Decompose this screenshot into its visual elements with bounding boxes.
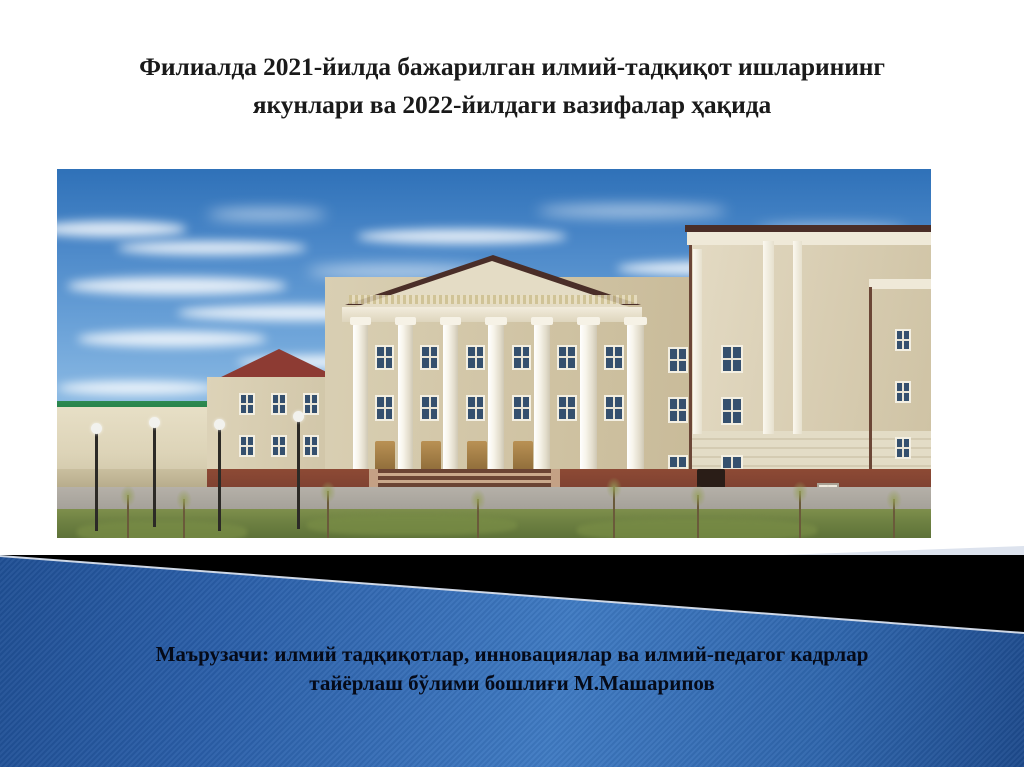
window — [557, 345, 577, 370]
window — [239, 393, 255, 415]
right-roof-edge — [685, 225, 931, 232]
cloud — [537, 205, 727, 217]
title-line-1: Филиалда 2021-йилда бажарилган илмий-тад… — [62, 48, 962, 86]
cloud — [357, 229, 567, 244]
cloud — [77, 331, 267, 347]
window — [895, 437, 911, 459]
column — [627, 324, 644, 472]
window — [895, 381, 911, 403]
window — [375, 395, 394, 421]
window — [557, 395, 577, 421]
red-roof — [217, 349, 341, 379]
window — [668, 347, 688, 373]
window — [239, 435, 255, 457]
lamp-post — [153, 425, 156, 527]
window — [604, 345, 624, 370]
column — [398, 324, 413, 472]
lamp-head — [91, 423, 102, 434]
lamp-post — [95, 431, 98, 531]
grass-patch — [77, 521, 247, 538]
window — [512, 345, 531, 370]
lamp-head — [293, 411, 304, 422]
window — [466, 395, 485, 421]
sapling — [183, 499, 185, 538]
caption-line-2: тайёрлаш бўлими бошлиғи М.Машарипов — [0, 669, 1024, 698]
presenter-caption: Маърузачи: илмий тадқиқотлар, инновациял… — [0, 640, 1024, 698]
pilaster — [793, 241, 802, 434]
sapling — [799, 491, 801, 538]
page-title: Филиалда 2021-йилда бажарилган илмий-тад… — [62, 48, 962, 124]
cloud — [117, 241, 307, 255]
window — [271, 435, 287, 457]
column — [488, 324, 504, 472]
window — [303, 393, 319, 415]
column — [353, 324, 368, 472]
window — [420, 345, 439, 370]
sapling — [893, 499, 895, 538]
sapling — [613, 487, 615, 538]
window — [271, 393, 287, 415]
window — [375, 345, 394, 370]
lamp-post — [218, 427, 221, 531]
slide-canvas: Филиалда 2021-йилда бажарилган илмий-тад… — [0, 0, 1024, 767]
window — [895, 329, 911, 351]
downpipe — [689, 245, 692, 475]
pilaster — [763, 241, 774, 434]
title-line-2: якунлари ва 2022-йилдаги вазифалар ҳақид… — [62, 86, 962, 124]
caption-line-1: Маърузачи: илмий тадқиқотлар, инновациял… — [0, 640, 1024, 669]
window — [721, 345, 743, 373]
window — [303, 435, 319, 457]
window — [604, 395, 624, 421]
sapling — [697, 495, 699, 538]
sapling — [477, 499, 479, 538]
column — [534, 324, 550, 472]
downpipe — [869, 287, 872, 482]
building-photo — [57, 169, 931, 538]
column — [580, 324, 597, 472]
cloud — [57, 381, 217, 395]
window — [466, 345, 485, 370]
cloud — [67, 277, 287, 295]
window — [668, 397, 688, 423]
lamp-head — [149, 417, 160, 428]
lamp-post — [297, 419, 300, 529]
right-cornice — [687, 231, 931, 245]
window — [420, 395, 439, 421]
window — [512, 395, 531, 421]
far-right-cornice — [869, 279, 931, 289]
lamp-head — [214, 419, 225, 430]
pediment-frieze — [349, 295, 637, 304]
pilaster — [693, 249, 702, 434]
window — [721, 397, 743, 425]
photo-content — [57, 169, 931, 538]
cloud — [207, 209, 327, 220]
sapling — [127, 495, 129, 538]
sapling — [327, 491, 329, 538]
column — [443, 324, 458, 472]
grass-patch — [307, 515, 517, 535]
